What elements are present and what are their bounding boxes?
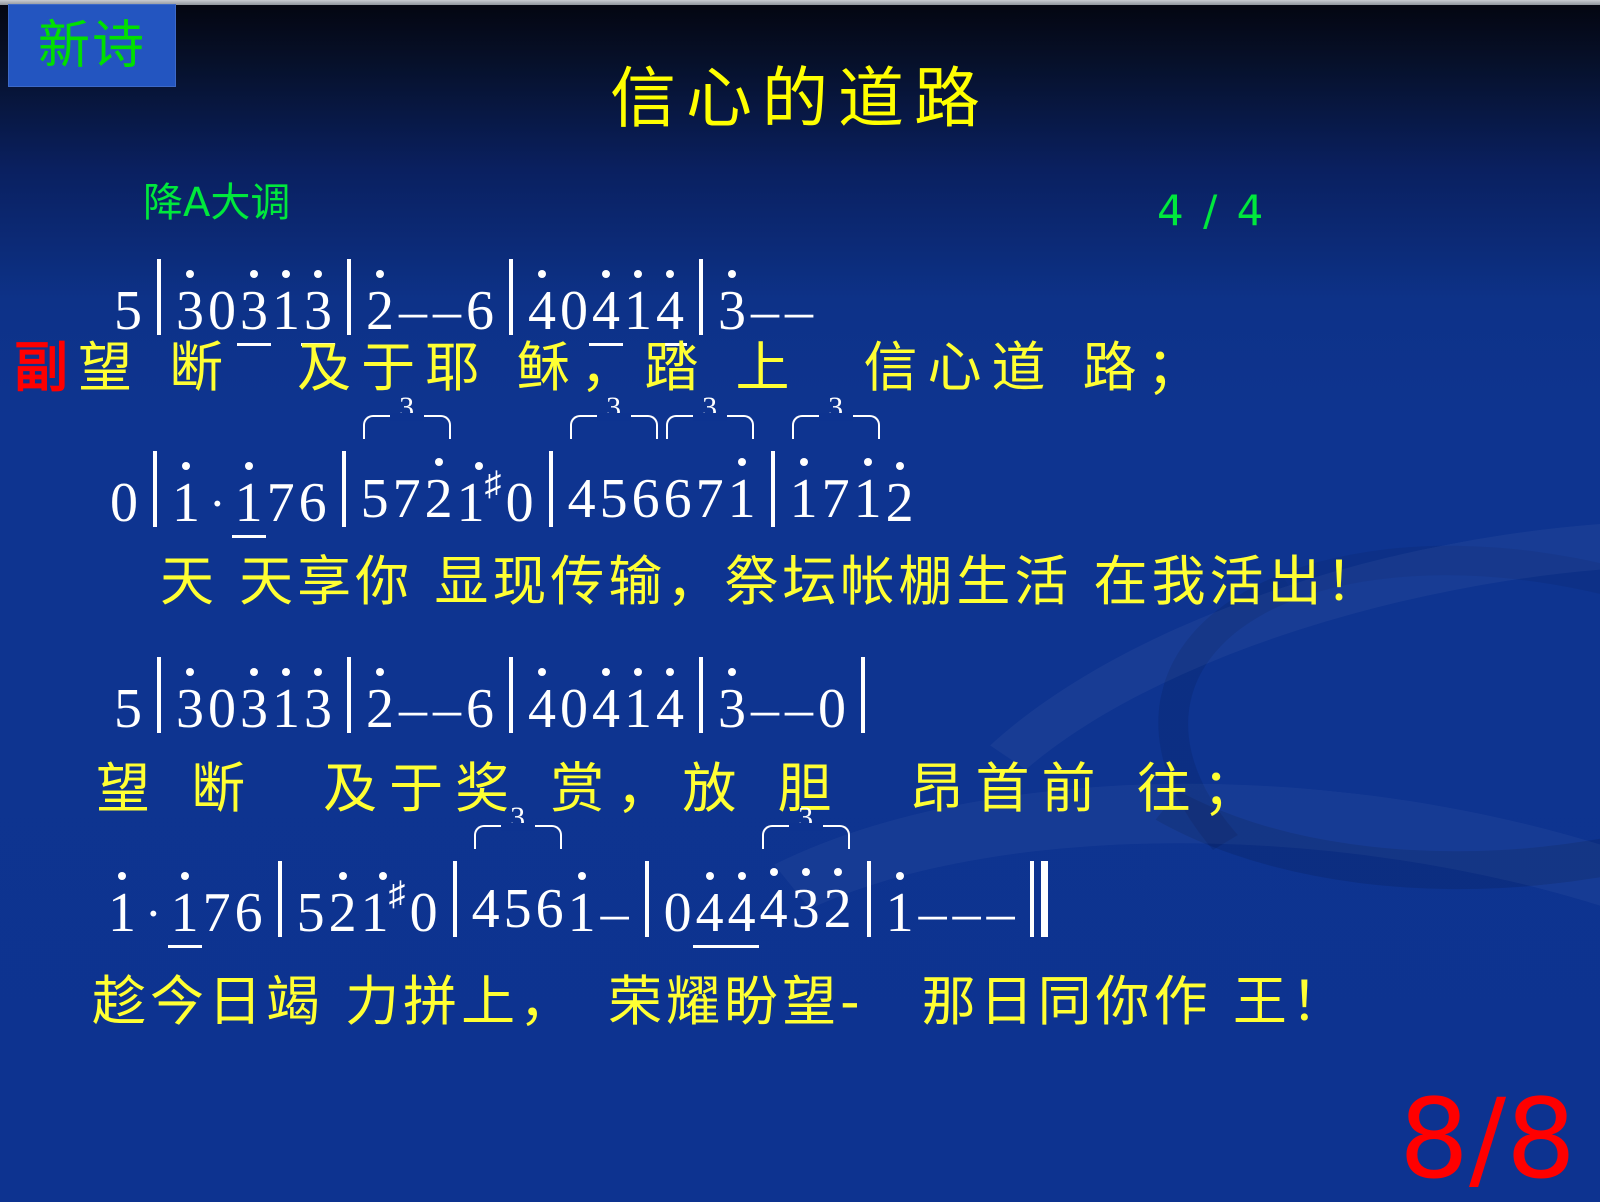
note-3: 3: [302, 283, 334, 339]
note-0: 0: [816, 681, 848, 737]
note-1: 1: [884, 885, 916, 941]
top-edge-strip: [0, 0, 1600, 5]
lyrics-row-1: 副望 断 及于耶 稣，踏 上 信心道 路；: [0, 341, 1600, 395]
note-4: 4: [758, 881, 790, 937]
sharp-accidental-icon: ♯: [389, 876, 406, 913]
lyrics-row-4: 趁今日竭 力拼上， 荣耀盼望- 那日同你作 王！: [0, 975, 1600, 1029]
lyrics-text: 天 天享你 显现传输，祭坛帐棚生活 在我活出！: [160, 550, 1384, 613]
note-7: 7: [391, 471, 423, 527]
barline: [861, 657, 865, 733]
triplet-group: 171: [788, 467, 884, 531]
note-1: 1: [566, 885, 598, 941]
triplet-bracket-gap: [501, 823, 535, 831]
note-4: 4: [470, 881, 502, 937]
notation-row-inner: 5303132––6404143––: [112, 243, 816, 339]
sustain-dash: –: [748, 681, 782, 737]
barline: [157, 657, 161, 733]
note-1: 1: [106, 885, 138, 941]
note-6: 6: [630, 471, 662, 527]
note-2: 2: [423, 471, 455, 527]
barline: [699, 259, 703, 335]
note-1: 1: [622, 681, 654, 737]
note-0: 0: [558, 283, 590, 339]
note-0: 0: [504, 475, 536, 531]
note-1: 1: [726, 471, 758, 527]
sustain-dash: –: [598, 885, 632, 941]
note-1: 1: [622, 283, 654, 339]
note-6: 6: [297, 475, 329, 531]
triplet-bracket-gap: [819, 413, 853, 421]
hymn-slide: 新诗 信心的道路 降A大调 4 / 4 8/8 5303132––6404143…: [0, 0, 1600, 1202]
note-1: 1: [852, 471, 884, 527]
note-5: 5: [598, 471, 630, 527]
note-3: 3: [302, 681, 334, 737]
notation-row-2: 01·1765721♯04566711712: [0, 435, 1600, 531]
barline: [509, 259, 513, 335]
sustain-dash: –: [748, 283, 782, 339]
note-1: 1♯: [359, 885, 408, 941]
triplet-group: 456: [470, 877, 566, 941]
triplet-bracket-gap: [390, 413, 424, 421]
triplet-bracket-gap: [789, 823, 823, 831]
note-6: 6: [464, 283, 496, 339]
note-1: 1: [788, 471, 820, 527]
barline: [453, 861, 457, 937]
note-6: 6: [464, 681, 496, 737]
note-1: 1: [233, 475, 265, 531]
note-0: 0: [408, 885, 440, 941]
note-3: 3: [238, 283, 270, 339]
note-7: 7: [820, 471, 852, 527]
note-4: 4: [590, 681, 622, 737]
triplet-bracket-gap: [693, 413, 727, 421]
sustain-dash: –: [984, 885, 1018, 941]
note-1: 1: [270, 681, 302, 737]
note-6: 6: [662, 471, 694, 527]
note-4: 4: [726, 885, 758, 941]
note-2: 2: [364, 681, 396, 737]
note-1: 1: [169, 885, 201, 941]
key-signature-label: 降A大调: [143, 183, 290, 223]
note-1: 1: [270, 283, 302, 339]
lyrics-text: 趁今日竭 力拼上， 荣耀盼望- 那日同你作 王！: [92, 970, 1349, 1033]
barline: [645, 861, 649, 937]
note-4: 4: [590, 283, 622, 339]
hymn-title: 信心的道路: [0, 66, 1600, 132]
note-4: 4: [654, 681, 686, 737]
note-3: 3: [716, 283, 748, 339]
lyrics-row-2: 天 天享你 显现传输，祭坛帐棚生活 在我活出！: [0, 555, 1600, 609]
barline: [157, 259, 161, 335]
barline: [699, 657, 703, 733]
note-4: 4: [694, 885, 726, 941]
barline: [509, 657, 513, 733]
note-5: 5: [112, 283, 144, 339]
sustain-dash: –: [396, 283, 430, 339]
dotted-rhythm-dot: ·: [202, 475, 233, 531]
note-0: 0: [558, 681, 590, 737]
note-3: 3: [174, 681, 206, 737]
note-0: 0: [108, 475, 140, 531]
note-1: 1♯: [455, 475, 504, 531]
note-7: 7: [201, 885, 233, 941]
final-double-barline: [1030, 861, 1048, 937]
sustain-dash: –: [396, 681, 430, 737]
barline: [342, 451, 346, 527]
note-4: 4: [526, 681, 558, 737]
note-5: 5: [359, 471, 391, 527]
notation-row-1: 5303132––6404143––: [0, 243, 1600, 339]
dotted-rhythm-dot: ·: [138, 885, 169, 941]
notation-row-inner: 1·176521♯04561–0444321–––: [106, 845, 1054, 941]
note-0: 0: [662, 885, 694, 941]
lyrics-text: 望 断 及于耶 稣，踏 上 信心道 路；: [78, 336, 1211, 399]
note-7: 7: [694, 471, 726, 527]
new-hymn-badge-label: 新诗: [38, 20, 146, 72]
notation-row-inner: 01·1765721♯04566711712: [108, 435, 916, 531]
sustain-dash: –: [916, 885, 950, 941]
note-4: 4: [526, 283, 558, 339]
barline: [278, 861, 282, 937]
sustain-dash: –: [430, 283, 464, 339]
note-5: 5: [295, 885, 327, 941]
note-7: 7: [265, 475, 297, 531]
note-6: 6: [534, 881, 566, 937]
note-3: 3: [790, 881, 822, 937]
triplet-group: 572: [359, 467, 455, 531]
note-0: 0: [206, 283, 238, 339]
time-signature-label: 4 / 4: [1157, 190, 1266, 232]
page-number: 8/8: [1399, 1084, 1576, 1194]
sustain-dash: –: [430, 681, 464, 737]
notation-row-3: 5303132––6404143––0: [0, 641, 1600, 737]
notation-row-inner: 5303132––6404143––0: [112, 641, 878, 737]
note-2: 2: [327, 885, 359, 941]
barline: [347, 259, 351, 335]
note-4: 4: [654, 283, 686, 339]
triplet-bracket-gap: [597, 413, 631, 421]
sustain-dash: –: [950, 885, 984, 941]
note-6: 6: [233, 885, 265, 941]
note-3: 3: [238, 681, 270, 737]
note-1: 1: [170, 475, 202, 531]
barline: [347, 657, 351, 733]
note-0: 0: [206, 681, 238, 737]
triplet-group: 671: [662, 467, 758, 531]
note-3: 3: [716, 681, 748, 737]
note-2: 2: [822, 881, 854, 937]
chorus-section-marker: 副: [14, 336, 78, 399]
note-5: 5: [502, 881, 534, 937]
notation-row-4: 1·176521♯04561–0444321–––: [0, 845, 1600, 941]
note-3: 3: [174, 283, 206, 339]
barline: [867, 861, 871, 937]
triplet-group: 456: [566, 467, 662, 531]
note-5: 5: [112, 681, 144, 737]
sustain-dash: –: [782, 681, 816, 737]
lyrics-text: 望 断 及于奖 赏，放 胆 昂首前 往；: [96, 757, 1269, 820]
barline: [153, 451, 157, 527]
sharp-accidental-icon: ♯: [485, 466, 502, 503]
barline: [771, 451, 775, 527]
barline: [549, 451, 553, 527]
note-2: 2: [364, 283, 396, 339]
sustain-dash: –: [782, 283, 816, 339]
triplet-group: 432: [758, 877, 854, 941]
note-4: 4: [566, 471, 598, 527]
note-2: 2: [884, 475, 916, 531]
